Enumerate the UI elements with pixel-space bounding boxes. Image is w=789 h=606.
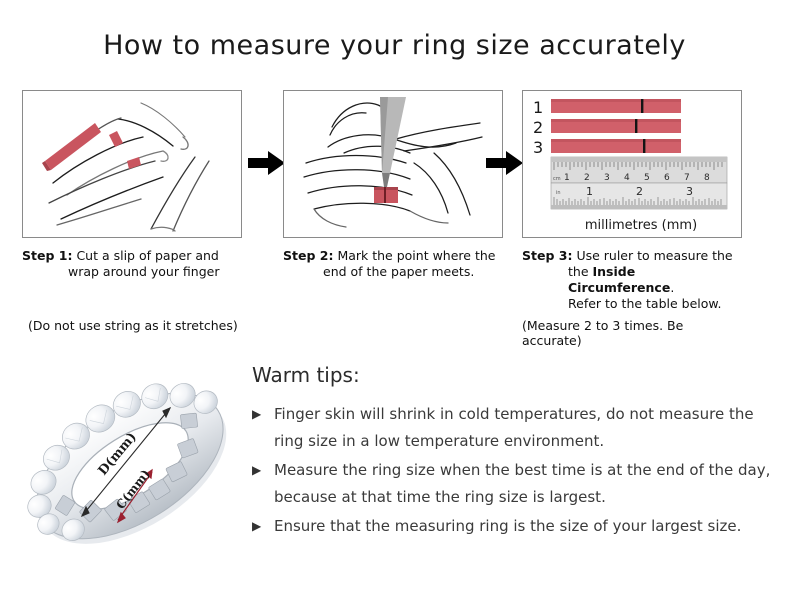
ruler-with-paper-strips-icon: 1 2 3 [523,91,742,238]
pen-shape [380,97,406,193]
warm-tip-text: Finger skin will shrink in cold temperat… [274,405,754,450]
svg-text:1: 1 [586,185,593,198]
svg-text:in: in [556,190,561,196]
page-title: How to measure your ring size accurately [0,30,789,61]
step-1-note: (Do not use string as it stretches) [28,318,238,333]
steps-row: Step 1: Cut a slip of paper and wrap aro… [22,90,767,340]
step-3: 1 2 3 [522,90,744,312]
strip-number-1: 1 [533,98,543,117]
step-2: Step 2: Mark the point where the end of … [283,90,505,280]
hand-with-paper-strip-icon [23,91,242,238]
step-2-line2: end of the paper meets. [283,264,505,280]
warm-tip-item: ▶ Ensure that the measuring ring is the … [252,513,772,540]
svg-text:2: 2 [584,173,590,183]
ruler-unit-label: millimetres (mm) [585,218,697,233]
svg-text:5: 5 [644,173,650,183]
strip-number-3: 3 [533,138,543,157]
step-3-caption: Step 3: Use ruler to measure the the Ins… [522,248,744,312]
step-1: Step 1: Cut a slip of paper and wrap aro… [22,90,244,280]
step-1-illustration-panel [22,90,242,238]
step-3-label: Step 3: [522,248,572,263]
warm-tip-item: ▶ Finger skin will shrink in cold temper… [252,401,772,455]
svg-text:2: 2 [636,185,643,198]
step-1-line2: wrap around your finger [22,264,244,280]
warm-tips-section: Warm tips: ▶ Finger skin will shrink in … [252,363,772,542]
right-arrow-icon [248,148,286,178]
step-1-line1: Cut a slip of paper and [76,248,218,263]
strip-number-2: 2 [533,118,543,137]
svg-text:3: 3 [686,185,693,198]
bullet-triangle-icon: ▶ [252,457,261,484]
step-1-caption: Step 1: Cut a slip of paper and wrap aro… [22,248,244,280]
ruler-cm-scale: 12 34 56 78 cm [551,157,727,183]
svg-text:4: 4 [624,173,630,183]
bullet-triangle-icon: ▶ [252,401,261,428]
warm-tip-text: Ensure that the measuring ring is the si… [274,517,741,535]
step-2-illustration-panel [283,90,503,238]
svg-text:8: 8 [704,173,710,183]
arrow-step2-to-step3 [486,148,524,178]
svg-text:6: 6 [664,173,670,183]
step-1-label: Step 1: [22,248,72,263]
svg-text:3: 3 [604,173,610,183]
svg-text:7: 7 [684,173,690,183]
step-2-label: Step 2: [283,248,333,263]
ring-diagram: D(mm) C(mm) [18,348,243,578]
step-2-caption: Step 2: Mark the point where the end of … [283,248,505,280]
step-3-illustration-panel: 1 2 3 [522,90,742,238]
bullet-triangle-icon: ▶ [252,513,261,540]
svg-text:1: 1 [564,173,570,183]
warm-tip-text: Measure the ring size when the best time… [274,461,770,506]
step-3-note: (Measure 2 to 3 times. Be accurate) [522,318,744,348]
step-3-line2: the Inside Circumference. [522,264,744,296]
warm-tip-item: ▶ Measure the ring size when the best ti… [252,457,772,511]
hand-with-pen-marking-icon [284,91,503,238]
eternity-ring-illustration-icon: D(mm) C(mm) [18,348,243,578]
ruler-inch-scale: 123 in [551,183,727,209]
paper-strip-shape [42,123,101,171]
right-arrow-icon [486,148,524,178]
step-2-line1: Mark the point where the [337,248,495,263]
step-3-line1: Use ruler to measure the [576,248,732,263]
marked-paper-band-shape [374,187,398,203]
warm-tips-heading: Warm tips: [252,363,772,387]
svg-text:cm: cm [553,176,561,182]
arrow-step1-to-step2 [248,148,286,178]
step-3-line3: Refer to the table below. [522,296,744,312]
